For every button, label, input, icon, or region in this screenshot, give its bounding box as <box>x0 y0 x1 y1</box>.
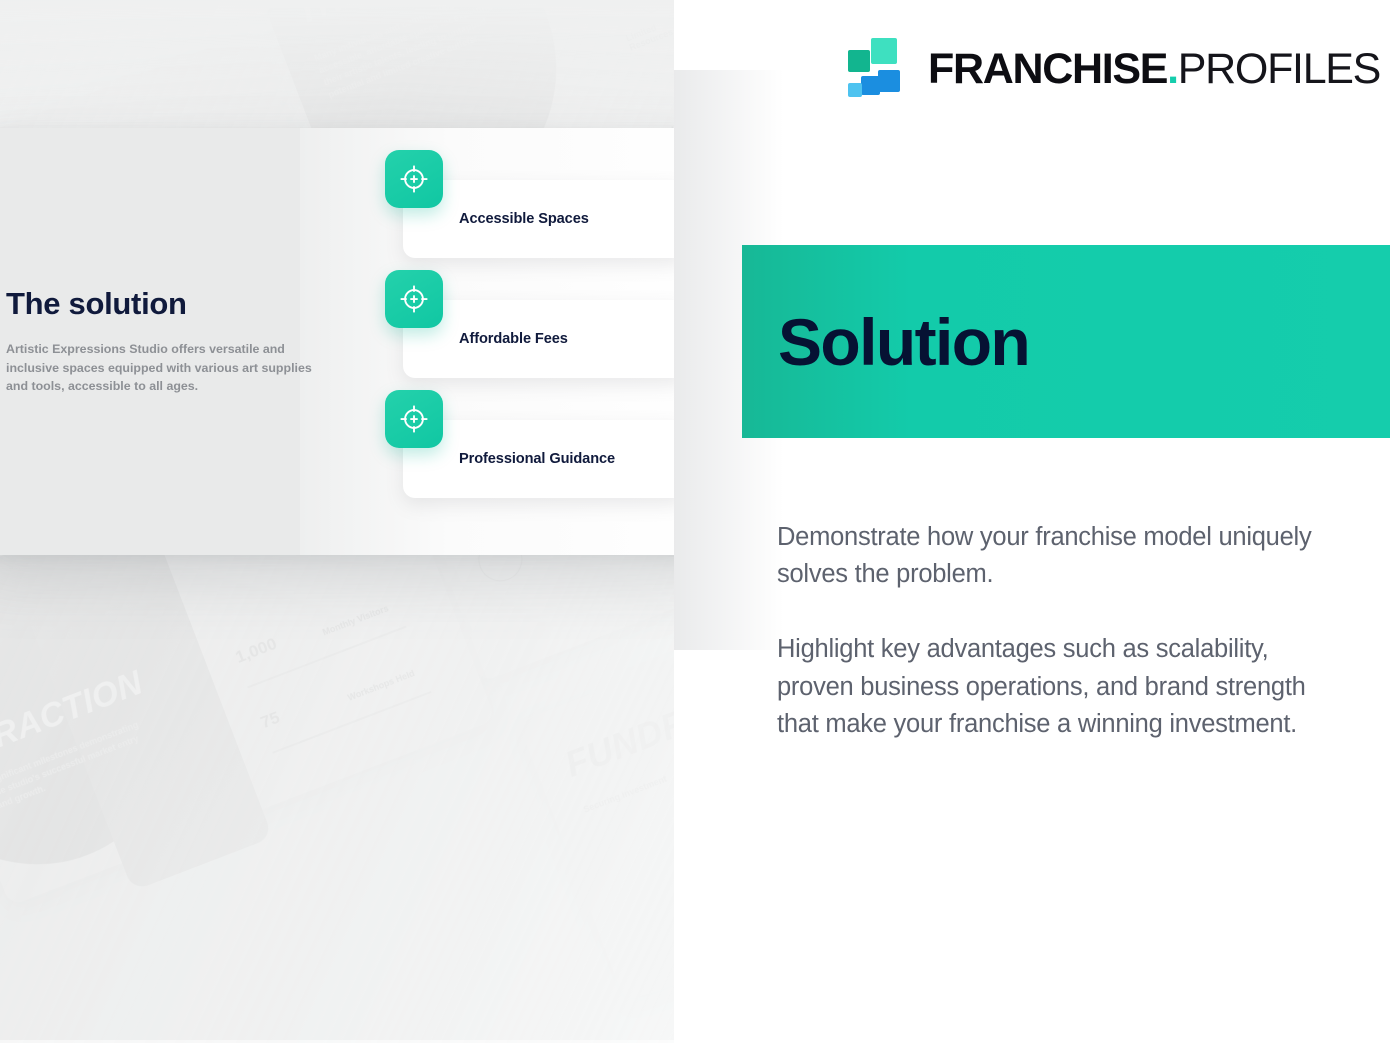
crosshair-target-icon <box>385 150 443 208</box>
slide-feature-item[interactable]: Professional Guidance <box>385 390 674 510</box>
brand-wordmark: FRANCHISE.PROFILES <box>928 48 1380 91</box>
brand-wordmark-bold: FRANCHISE <box>928 45 1167 93</box>
brand-wordmark-thin: PROFILES <box>1178 45 1380 93</box>
feature-label: Accessible Spaces <box>403 211 589 227</box>
featured-slide-card: The solution Artistic Expressions Studio… <box>0 128 674 555</box>
brand-lockup: FRANCHISE.PROFILES <box>848 38 1380 100</box>
slide-feature-item[interactable]: Accessible Spaces <box>385 150 674 270</box>
section-title-band: Solution <box>742 245 1390 438</box>
section-body-copy: Demonstrate how your franchise model uni… <box>777 519 1322 744</box>
feature-label: Professional Guidance <box>403 451 615 467</box>
body-paragraph: Highlight key advantages such as scalabi… <box>777 631 1322 743</box>
crosshair-target-icon <box>385 270 443 328</box>
feature-label: Affordable Fees <box>403 331 568 347</box>
slide-preview-page: pitch deck THE PROBLEM Many individuals … <box>0 0 1390 1043</box>
slide-feature-list: Accessible Spaces <box>385 150 674 510</box>
slide-feature-item[interactable]: Affordable Fees <box>385 270 674 390</box>
feature-card[interactable]: Professional Guidance <box>403 420 674 498</box>
slide-heading: The solution <box>6 286 336 322</box>
deck-preview-region: pitch deck THE PROBLEM Many individuals … <box>0 0 674 1043</box>
slide-body-text: Artistic Expressions Studio offers versa… <box>6 340 326 396</box>
feature-card[interactable]: Accessible Spaces <box>403 180 674 258</box>
body-paragraph: Demonstrate how your franchise model uni… <box>777 519 1322 594</box>
feature-card[interactable]: Affordable Fees <box>403 300 674 378</box>
collage-top-fade <box>0 0 674 130</box>
franchise-profiles-squares-logo <box>848 38 906 100</box>
crosshair-target-icon <box>385 390 443 448</box>
section-title: Solution <box>778 309 1029 375</box>
content-pane: FRANCHISE.PROFILES Solution Demonstrate … <box>674 0 1390 1043</box>
slide-text-block: The solution Artistic Expressions Studio… <box>6 286 336 396</box>
brand-wordmark-dot: . <box>1167 45 1178 93</box>
